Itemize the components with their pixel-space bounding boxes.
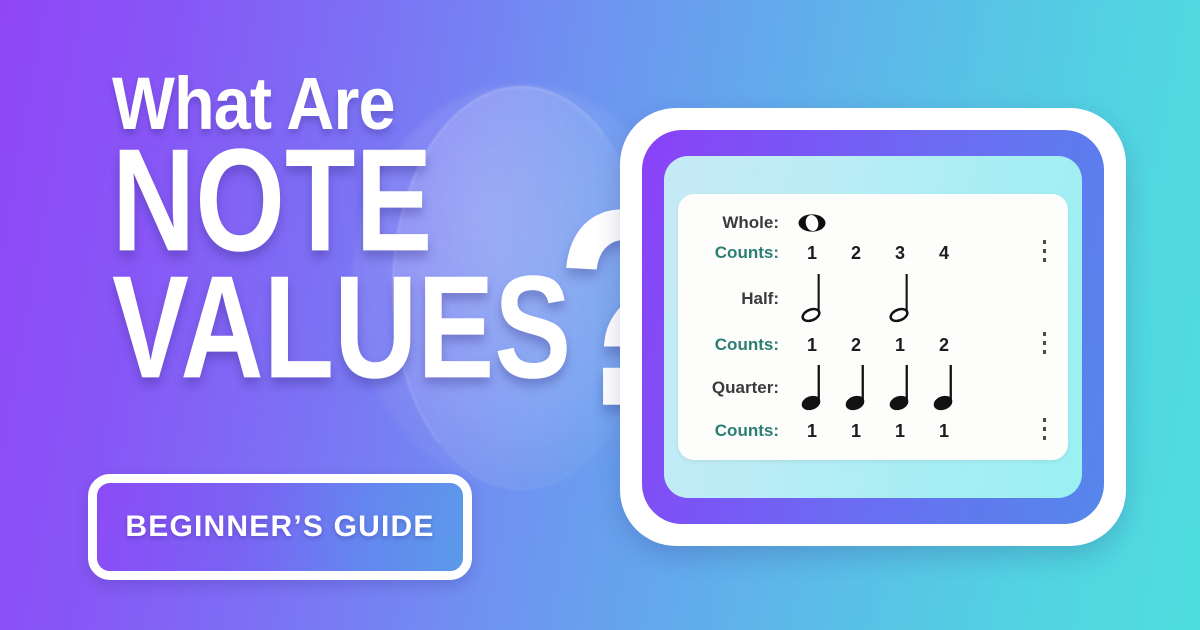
row-cells-whole [790, 212, 966, 234]
headline-line-2: NOTE [112, 143, 577, 260]
count-value: 1 [895, 336, 905, 354]
quarter-note-cell [834, 363, 878, 413]
count-value: 1 [895, 422, 905, 440]
note-values-card: Whole:Counts:1234Half:Counts:1212Quarter… [678, 194, 1068, 460]
count-cell: 2 [834, 336, 878, 354]
row-cells-whole-counts: 1234 [790, 244, 966, 262]
count-cell: 1 [834, 422, 878, 440]
badge-label: BEGINNER’S GUIDE [125, 510, 434, 544]
count-value: 3 [895, 244, 905, 262]
quarter-note-cell [922, 363, 966, 413]
empty-note-cell [922, 272, 966, 326]
note-row-quarter-counts: Counts:1111 [686, 416, 1052, 446]
row-label-whole: Whole: [686, 213, 790, 233]
count-cell: 2 [834, 244, 878, 262]
count-value: 2 [851, 244, 861, 262]
tablet-device: Whole:Counts:1234Half:Counts:1212Quarter… [620, 108, 1126, 546]
count-value: 1 [939, 422, 949, 440]
row-label-half-counts: Counts: [686, 335, 790, 355]
empty-note-cell [922, 212, 966, 234]
beginners-guide-badge[interactable]: BEGINNER’S GUIDE [88, 474, 472, 580]
count-cell: 1 [878, 422, 922, 440]
poster-canvas: What Are NOTE VALUES ? BEGINNER’S GUIDE … [0, 0, 1200, 630]
count-cell: 1 [878, 336, 922, 354]
note-row-half-counts: Counts:1212 [686, 330, 1052, 360]
quarter-note-icon [841, 363, 871, 413]
count-cell: 2 [922, 336, 966, 354]
half-note-icon [797, 272, 827, 326]
tablet-screen: Whole:Counts:1234Half:Counts:1212Quarter… [664, 156, 1082, 498]
dashed-barline-icon [1043, 240, 1046, 266]
count-value: 1 [807, 422, 817, 440]
whole-note-cell [790, 212, 834, 234]
half-note-icon [885, 272, 915, 326]
quarter-note-cell [878, 363, 922, 413]
headline-line-3: VALUES [112, 270, 577, 387]
count-value: 1 [807, 336, 817, 354]
count-cell: 3 [878, 244, 922, 262]
quarter-note-cell [790, 363, 834, 413]
empty-note-cell [878, 212, 922, 234]
empty-note-cell [834, 212, 878, 234]
count-value: 1 [851, 422, 861, 440]
row-cells-half [790, 272, 966, 326]
half-note-cell [878, 272, 922, 326]
row-label-half: Half: [686, 289, 790, 309]
count-value: 4 [939, 244, 949, 262]
note-row-quarter: Quarter: [686, 360, 1052, 416]
quarter-note-icon [797, 363, 827, 413]
whole-note-icon [797, 212, 827, 234]
count-cell: 1 [790, 244, 834, 262]
quarter-note-icon [929, 363, 959, 413]
note-row-whole-counts: Counts:1234 [686, 238, 1052, 268]
tablet-bezel: Whole:Counts:1234Half:Counts:1212Quarter… [642, 130, 1104, 524]
dashed-barline-icon [1043, 418, 1046, 444]
quarter-note-icon [885, 363, 915, 413]
row-cells-quarter [790, 363, 966, 413]
row-cells-quarter-counts: 1111 [790, 422, 966, 440]
row-label-quarter-counts: Counts: [686, 421, 790, 441]
count-value: 1 [807, 244, 817, 262]
half-note-cell [790, 272, 834, 326]
count-value: 2 [851, 336, 861, 354]
row-cells-half-counts: 1212 [790, 336, 966, 354]
empty-note-cell [834, 272, 878, 326]
note-row-half: Half: [686, 268, 1052, 330]
row-label-whole-counts: Counts: [686, 243, 790, 263]
count-cell: 1 [790, 336, 834, 354]
count-value: 2 [939, 336, 949, 354]
row-label-quarter: Quarter: [686, 378, 790, 398]
count-cell: 1 [790, 422, 834, 440]
count-cell: 1 [922, 422, 966, 440]
count-cell: 4 [922, 244, 966, 262]
dashed-barline-icon [1043, 332, 1046, 358]
headline-block: What Are NOTE VALUES ? [112, 74, 612, 369]
note-row-whole: Whole: [686, 208, 1052, 238]
